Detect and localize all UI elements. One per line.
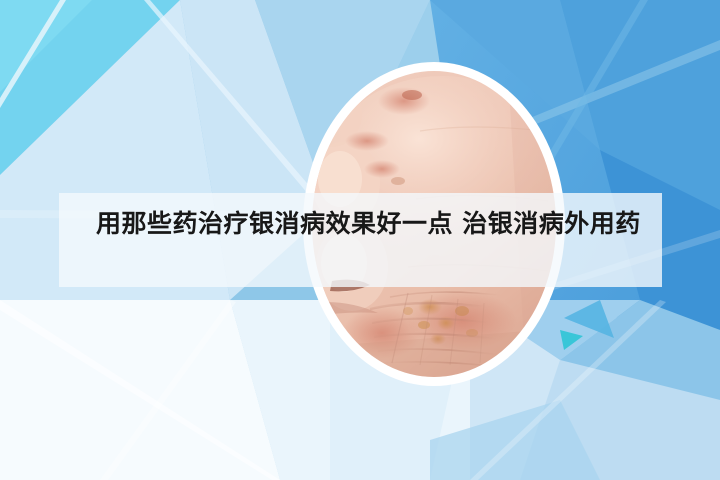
article-title: 用那些药治疗银消病效果好一点 治银消病外用药	[96, 205, 656, 243]
article-banner: 用那些药治疗银消病效果好一点 治银消病外用药	[0, 0, 720, 480]
